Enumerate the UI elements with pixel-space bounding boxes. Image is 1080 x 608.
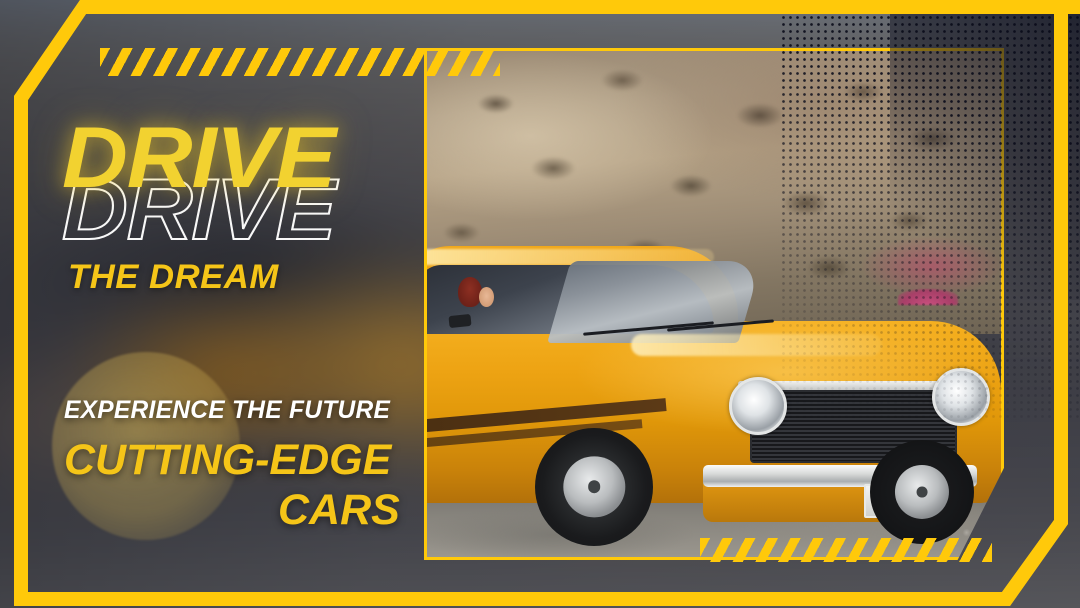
subtitle: THE DREAM — [68, 258, 279, 297]
hero-photo — [427, 51, 1001, 557]
promo-banner: DRIVE DRIVE THE DREAM EXPERIENCE THE FUT… — [0, 0, 1080, 608]
copy-block: DRIVE DRIVE THE DREAM EXPERIENCE THE FUT… — [0, 0, 430, 608]
car-side-mirror — [448, 314, 471, 328]
page-title: DRIVE — [62, 118, 335, 199]
car-rim-front-left — [564, 456, 625, 517]
car-hood-highlight — [631, 334, 882, 356]
car-hub-front-left — [588, 481, 600, 493]
title-wrap: DRIVE DRIVE — [62, 118, 422, 248]
promo-headline-line2: CARS — [278, 486, 400, 535]
car-hub-front-right — [916, 487, 927, 498]
car-rim-front-right — [895, 465, 949, 519]
car-driver-face — [479, 287, 494, 307]
promo-headline-line1: CUTTING-EDGE — [64, 436, 391, 485]
car-wheel-front-right — [870, 440, 974, 544]
promo-kicker: EXPERIENCE THE FUTURE — [64, 396, 390, 425]
hero-photo-frame — [424, 48, 1004, 560]
car-headlight-right — [932, 368, 990, 426]
car-wheel-front-left — [535, 428, 653, 546]
car-windshield — [548, 261, 762, 343]
car-driver-hair — [458, 277, 482, 307]
photo-car — [427, 233, 1001, 547]
